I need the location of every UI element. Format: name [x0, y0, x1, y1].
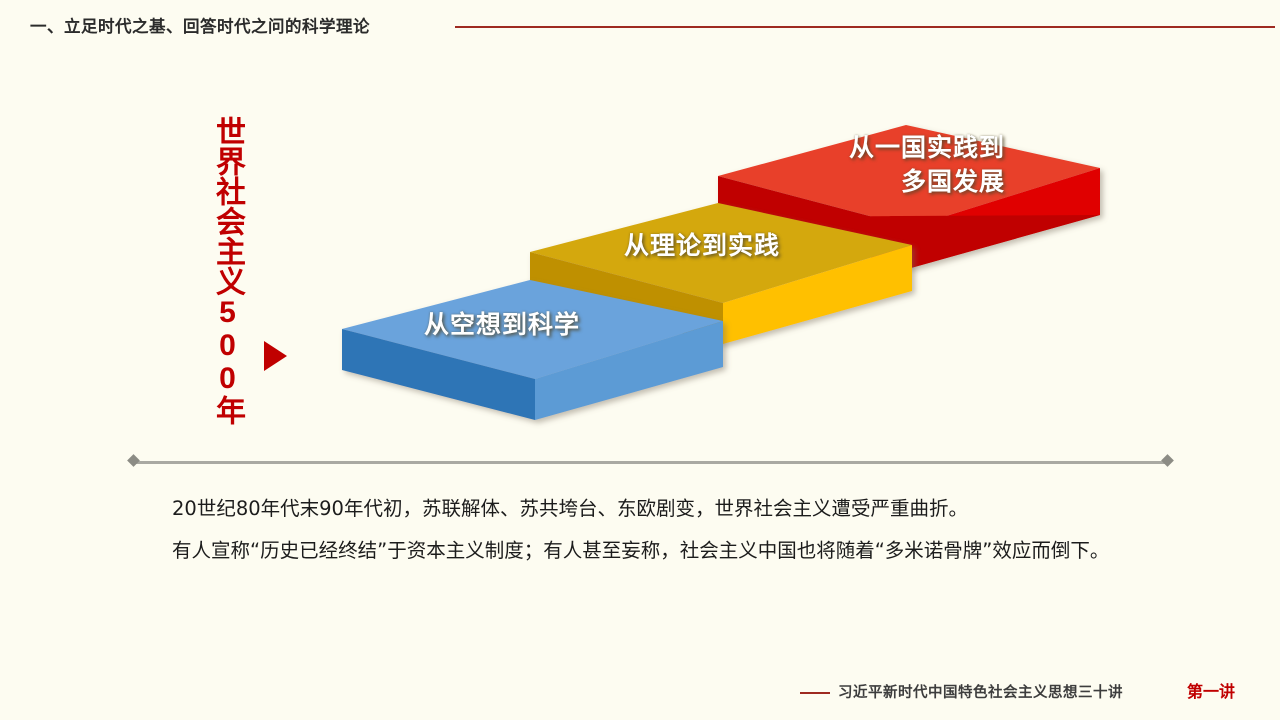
body-text-block: 20世纪80年代末90年代初，苏联解体、苏共垮台、东欧剧变，世界社会主义遭受严重… [133, 488, 1171, 572]
footer-rule [800, 692, 830, 694]
footer-lecture-badge: 第一讲 [1187, 678, 1235, 702]
staircase-diagram: 从空想到科学 从理论到实践 从一国实践到 多国发展 [0, 0, 1280, 460]
footer-series-title: 习近平新时代中国特色社会主义思想三十讲 [838, 681, 1123, 702]
body-paragraph-1: 20世纪80年代末90年代初，苏联解体、苏共垮台、东欧剧变，世界社会主义遭受严重… [133, 488, 1171, 530]
body-paragraph-2: 有人宣称“历史已经终结”于资本主义制度；有人甚至妄称，社会主义中国也将随着“多米… [133, 530, 1171, 572]
staircase-svg [0, 0, 1280, 460]
content-divider [133, 461, 1168, 464]
